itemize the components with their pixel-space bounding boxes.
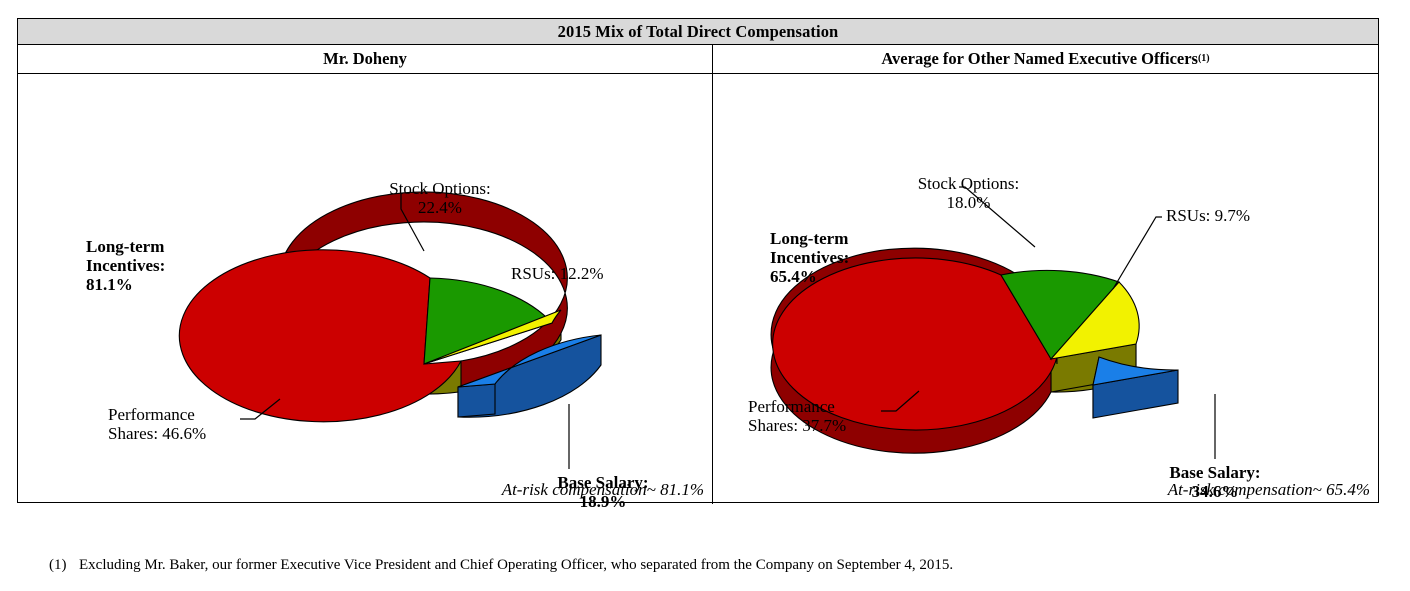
- at-risk-compensation-doheny: At-risk compensation~ 81.1%: [502, 480, 704, 500]
- column-header-doheny: Mr. Doheny: [18, 45, 713, 73]
- label-stock-options-doheny: Stock Options: 22.4%: [370, 179, 510, 217]
- label-long-term-incentives-doheny: Long-term Incentives: 81.1%: [86, 237, 165, 294]
- compensation-mix-figure: 2015 Mix of Total Direct Compensation Mr…: [0, 0, 1410, 578]
- label-rsus-doheny: RSUs: 12.2%: [511, 264, 604, 283]
- at-risk-compensation-neos: At-risk compensation~ 65.4%: [1168, 480, 1370, 500]
- table-title: 2015 Mix of Total Direct Compensation: [18, 19, 1378, 45]
- label-stock-options-neos: Stock Options: 18.0%: [896, 174, 1041, 212]
- label-rsus-neos: RSUs: 9.7%: [1166, 206, 1250, 225]
- pie-chart-other-neos: [713, 74, 1379, 504]
- footnote-1: (1)Excluding Mr. Baker, our former Execu…: [34, 540, 953, 591]
- compensation-table: 2015 Mix of Total Direct Compensation Mr…: [17, 18, 1379, 503]
- column-header-other-neos: Average for Other Named Executive Office…: [713, 45, 1378, 73]
- footnote-text: Excluding Mr. Baker, our former Executiv…: [79, 557, 953, 573]
- pie-side-base-salary-left-doheny: [458, 384, 495, 417]
- chart-panel-doheny: Long-term Incentives: 81.1% Stock Option…: [18, 74, 713, 504]
- label-performance-shares-doheny: Performance Shares: 46.6%: [108, 405, 206, 443]
- chart-panel-other-neos: Long-term Incentives: 65.4% Stock Option…: [713, 74, 1378, 504]
- label-performance-shares-neos: Performance Shares: 37.7%: [748, 397, 846, 435]
- label-long-term-incentives-neos: Long-term Incentives: 65.4%: [770, 229, 849, 286]
- charts-row: Long-term Incentives: 81.1% Stock Option…: [18, 74, 1378, 504]
- column-header-other-neos-text: Average for Other Named Executive Office…: [881, 49, 1198, 69]
- table-column-headers: Mr. Doheny Average for Other Named Execu…: [18, 45, 1378, 74]
- footnote-marker: (1): [49, 557, 79, 574]
- pie-slice-performance-shares-doheny[interactable]: [179, 250, 461, 422]
- leader-line-rsus-neos: [1113, 217, 1162, 289]
